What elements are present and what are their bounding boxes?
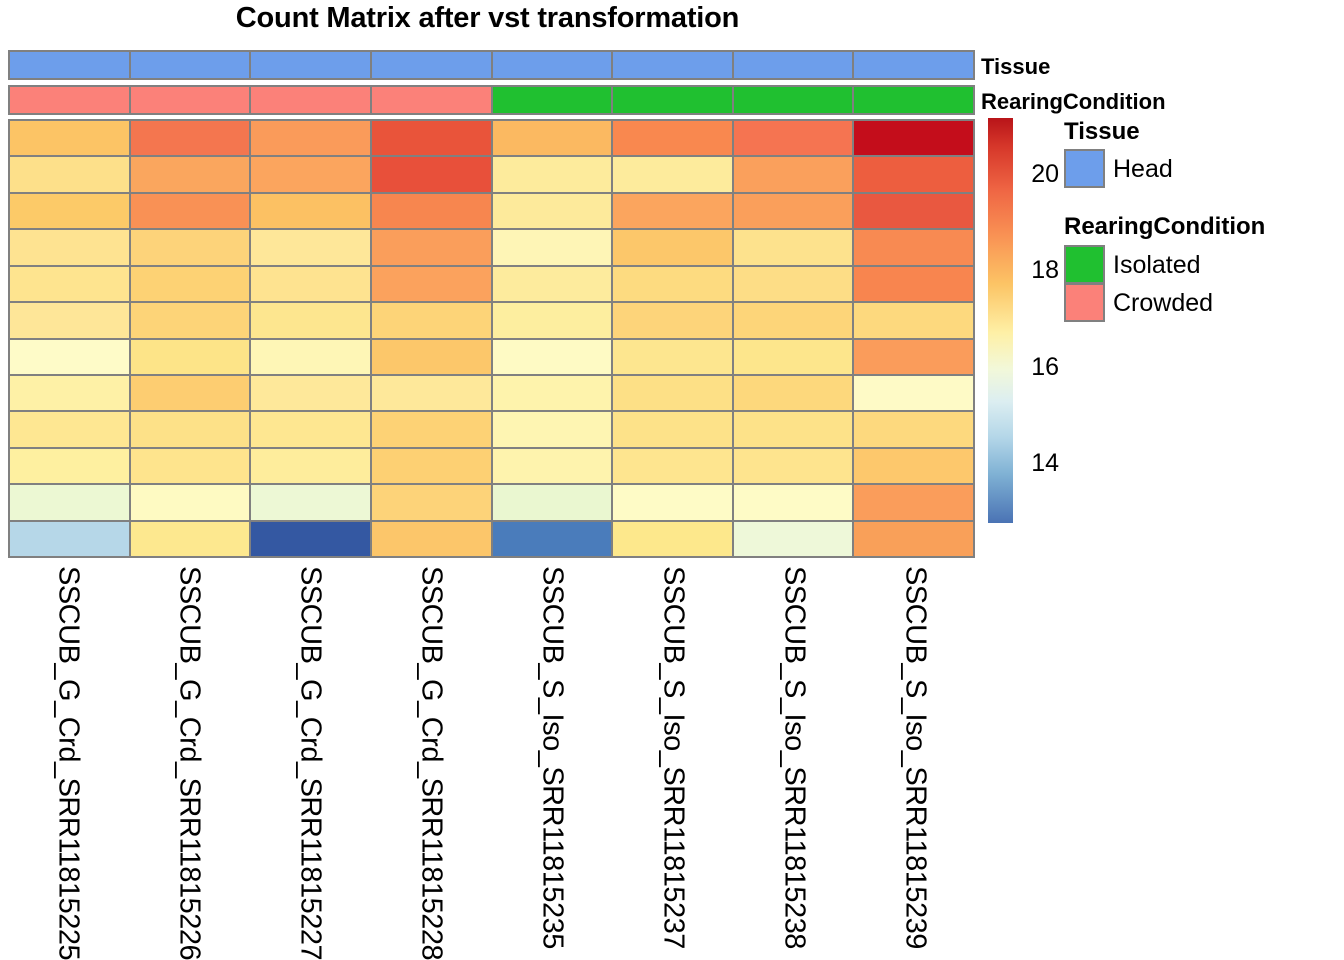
annotation-cell xyxy=(372,87,493,113)
x-axis-label-slot: SSCUB_G_Crd_SRR11815228 xyxy=(371,560,492,958)
x-axis-label-slot: SSCUB_S_Iso_SRR11815235 xyxy=(492,560,613,958)
heatmap-cell xyxy=(372,303,493,337)
annotation-label-tissue: Tissue xyxy=(981,54,1050,80)
heatmap-cell xyxy=(10,303,131,337)
annotation-cell xyxy=(372,52,493,78)
legend-title-rearingcondition: RearingCondition xyxy=(1064,213,1265,241)
heatmap-cell xyxy=(251,230,372,264)
heatmap-cell xyxy=(493,376,614,410)
annotation-cell xyxy=(854,52,973,78)
annotation-cell xyxy=(10,87,131,113)
heatmap-cell xyxy=(251,340,372,374)
heatmap-cell xyxy=(10,485,131,519)
heatmap-cell xyxy=(613,157,734,191)
heatmap-cell xyxy=(613,340,734,374)
heatmap-cell xyxy=(131,412,252,446)
annotation-bar-rearingcondition xyxy=(8,85,975,115)
heatmap-row xyxy=(10,449,973,485)
annotation-bar-tissue xyxy=(8,50,975,80)
colorbar-tick-label: 20 xyxy=(1019,160,1059,189)
heatmap-row xyxy=(10,412,973,448)
heatmap-cell xyxy=(372,449,493,483)
heatmap-cell xyxy=(372,194,493,228)
heatmap-cell xyxy=(131,303,252,337)
heatmap-cell xyxy=(854,449,973,483)
heatmap-cell xyxy=(734,267,855,301)
heatmap-row xyxy=(10,522,973,556)
heatmap-cell xyxy=(372,340,493,374)
x-axis-label-slot: SSCUB_G_Crd_SRR11815227 xyxy=(250,560,371,958)
heatmap-cell xyxy=(251,157,372,191)
annotation-cell xyxy=(10,52,131,78)
x-axis-label-slot: SSCUB_S_Iso_SRR11815238 xyxy=(733,560,854,958)
heatmap-cell xyxy=(372,121,493,155)
heatmap-cell xyxy=(613,230,734,264)
heatmap-cell xyxy=(251,303,372,337)
colorbar-tick-label: 14 xyxy=(1019,449,1059,478)
heatmap-figure: Count Matrix after vst transformation Ti… xyxy=(0,0,1344,960)
heatmap-cell xyxy=(734,449,855,483)
colorbar-gradient xyxy=(988,118,1013,523)
x-axis-tick-label: SSCUB_S_Iso_SRR11815239 xyxy=(898,566,931,949)
heatmap-cell xyxy=(493,230,614,264)
heatmap-cell xyxy=(734,157,855,191)
heatmap-cell xyxy=(131,449,252,483)
annotation-label-rearingcondition: RearingCondition xyxy=(981,89,1166,115)
x-axis-tick-label: SSCUB_G_Crd_SRR11815225 xyxy=(52,566,85,960)
heatmap-cell xyxy=(734,194,855,228)
heatmap-cell xyxy=(131,157,252,191)
x-axis-tick-label: SSCUB_S_Iso_SRR11815235 xyxy=(535,566,568,949)
heatmap-cell xyxy=(131,194,252,228)
legend-title-tissue: Tissue xyxy=(1064,118,1140,146)
heatmap-row xyxy=(10,157,973,193)
annotation-cell xyxy=(251,87,372,113)
page-title: Count Matrix after vst transformation xyxy=(0,2,975,35)
heatmap-cell xyxy=(251,267,372,301)
heatmap-cell xyxy=(10,412,131,446)
heatmap-cell xyxy=(734,230,855,264)
heatmap-cell xyxy=(372,376,493,410)
heatmap-cell xyxy=(372,230,493,264)
x-axis-label-slot: SSCUB_S_Iso_SRR11815237 xyxy=(612,560,733,958)
heatmap-cell xyxy=(10,230,131,264)
x-axis-tick-label: SSCUB_G_Crd_SRR11815228 xyxy=(415,566,448,960)
heatmap-cell xyxy=(131,340,252,374)
x-axis-label-slot: SSCUB_S_Iso_SRR11815239 xyxy=(854,560,975,958)
heatmap-cell xyxy=(613,449,734,483)
annotation-cell xyxy=(734,87,855,113)
heatmap-cell xyxy=(131,522,252,556)
heatmap-grid xyxy=(8,119,975,558)
heatmap-cell xyxy=(854,485,973,519)
heatmap-cell xyxy=(734,412,855,446)
heatmap-cell xyxy=(251,485,372,519)
heatmap-cell xyxy=(613,121,734,155)
heatmap-row xyxy=(10,194,973,230)
heatmap-cell xyxy=(493,194,614,228)
heatmap-cell xyxy=(251,376,372,410)
heatmap-cell xyxy=(493,267,614,301)
annotation-cell xyxy=(613,52,734,78)
legend-swatch-head xyxy=(1064,149,1105,188)
heatmap-cell xyxy=(493,522,614,556)
heatmap-cell xyxy=(10,121,131,155)
heatmap-cell xyxy=(10,449,131,483)
colorbar-tick-label: 16 xyxy=(1019,353,1059,382)
annotation-cell xyxy=(251,52,372,78)
heatmap-cell xyxy=(854,376,973,410)
heatmap-cell xyxy=(854,267,973,301)
heatmap-cell xyxy=(131,121,252,155)
annotation-cell xyxy=(734,52,855,78)
heatmap-cell xyxy=(372,522,493,556)
heatmap-cell xyxy=(372,485,493,519)
x-axis-label-slot: SSCUB_G_Crd_SRR11815226 xyxy=(129,560,250,958)
heatmap-cell xyxy=(734,376,855,410)
heatmap-cell xyxy=(131,267,252,301)
legend-label-head: Head xyxy=(1113,155,1173,184)
heatmap-cell xyxy=(734,340,855,374)
annotation-cell xyxy=(131,87,252,113)
heatmap-cell xyxy=(854,303,973,337)
heatmap-cell xyxy=(251,522,372,556)
heatmap-cell xyxy=(613,376,734,410)
legend-swatch-crowded xyxy=(1064,283,1105,322)
heatmap-row xyxy=(10,340,973,376)
heatmap-cell xyxy=(372,267,493,301)
heatmap-cell xyxy=(493,157,614,191)
heatmap-cell xyxy=(10,522,131,556)
heatmap-cell xyxy=(10,194,131,228)
heatmap-cell xyxy=(613,522,734,556)
annotation-cell xyxy=(131,52,252,78)
heatmap-cell xyxy=(854,121,973,155)
legend-label-crowded: Crowded xyxy=(1113,289,1213,318)
x-axis-tick-label: SSCUB_S_Iso_SRR11815237 xyxy=(656,566,689,949)
annotation-cell xyxy=(854,87,973,113)
heatmap-cell xyxy=(131,485,252,519)
heatmap-cell xyxy=(10,340,131,374)
heatmap-row xyxy=(10,230,973,266)
heatmap-cell xyxy=(251,121,372,155)
heatmap-cell xyxy=(131,376,252,410)
colorbar-tick-label: 18 xyxy=(1019,256,1059,285)
x-axis-label-slot: SSCUB_G_Crd_SRR11815225 xyxy=(8,560,129,958)
heatmap-cell xyxy=(734,121,855,155)
annotation-cell xyxy=(493,87,614,113)
heatmap-cell xyxy=(854,157,973,191)
heatmap-cell xyxy=(854,412,973,446)
heatmap-row xyxy=(10,121,973,157)
heatmap-cell xyxy=(854,230,973,264)
heatmap-cell xyxy=(613,485,734,519)
heatmap-cell xyxy=(854,340,973,374)
heatmap-cell xyxy=(854,522,973,556)
x-axis-tick-label: SSCUB_G_Crd_SRR11815227 xyxy=(294,566,327,960)
heatmap-cell xyxy=(493,412,614,446)
heatmap-cell xyxy=(854,194,973,228)
annotation-cell xyxy=(493,52,614,78)
heatmap-cell xyxy=(131,230,252,264)
heatmap-cell xyxy=(613,267,734,301)
heatmap-cell xyxy=(251,412,372,446)
heatmap-cell xyxy=(372,157,493,191)
heatmap-cell xyxy=(734,303,855,337)
heatmap-cell xyxy=(493,449,614,483)
heatmap-cell xyxy=(10,267,131,301)
x-axis-tick-label: SSCUB_S_Iso_SRR11815238 xyxy=(777,566,810,949)
heatmap-row xyxy=(10,485,973,521)
heatmap-cell xyxy=(734,522,855,556)
heatmap-row xyxy=(10,303,973,339)
x-axis-tick-label: SSCUB_G_Crd_SRR11815226 xyxy=(173,566,206,960)
x-axis-labels: SSCUB_G_Crd_SRR11815225SSCUB_G_Crd_SRR11… xyxy=(8,560,975,958)
heatmap-cell xyxy=(10,376,131,410)
heatmap-cell xyxy=(613,412,734,446)
heatmap-cell xyxy=(10,157,131,191)
heatmap-cell xyxy=(734,485,855,519)
heatmap-cell xyxy=(493,485,614,519)
heatmap-cell xyxy=(613,194,734,228)
heatmap-cell xyxy=(493,303,614,337)
heatmap-cell xyxy=(372,412,493,446)
heatmap-row xyxy=(10,267,973,303)
legend-label-isolated: Isolated xyxy=(1113,251,1201,280)
heatmap-row xyxy=(10,376,973,412)
heatmap-cell xyxy=(493,340,614,374)
heatmap-cell xyxy=(493,121,614,155)
heatmap-cell xyxy=(613,303,734,337)
legend-swatch-isolated xyxy=(1064,245,1105,284)
annotation-cell xyxy=(613,87,734,113)
heatmap-cell xyxy=(251,194,372,228)
heatmap-cell xyxy=(251,449,372,483)
